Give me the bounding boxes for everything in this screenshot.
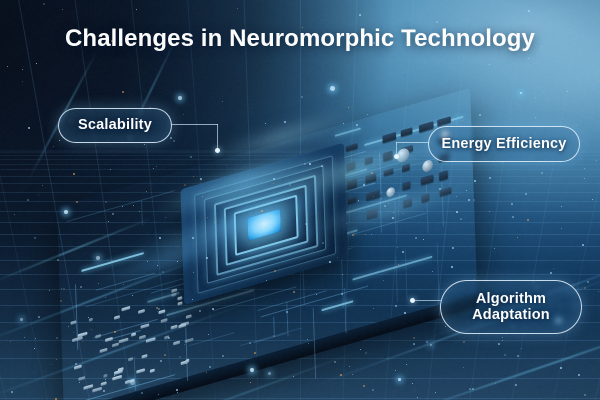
speck [68, 326, 69, 327]
speck [511, 203, 513, 205]
speck [561, 206, 562, 207]
cpu-pin [346, 289, 349, 303]
speck [206, 372, 207, 373]
speck [439, 188, 441, 190]
speck [592, 199, 593, 200]
speck [596, 160, 597, 161]
cpu-pin [257, 304, 260, 318]
glow-node [20, 318, 23, 321]
speck [186, 363, 187, 364]
leader-endpoint-energy [394, 154, 399, 159]
cpu-pin [164, 331, 167, 345]
cpu-pin [426, 235, 429, 250]
cpu-pin [308, 269, 311, 284]
speck [214, 222, 215, 223]
cpu-pin [112, 346, 115, 360]
cpu-pin [179, 326, 182, 340]
cpu-pin [231, 312, 234, 326]
speck [301, 96, 303, 98]
cpu-pin [236, 310, 239, 324]
cpu-pin [349, 228, 363, 235]
speck [584, 287, 586, 289]
speck [525, 193, 527, 195]
cpu-pin [148, 335, 151, 349]
speck [432, 271, 433, 272]
speck [273, 178, 275, 180]
speck [373, 308, 374, 309]
cpu-pin [404, 241, 407, 256]
speck [472, 388, 474, 390]
cpu-pin [159, 332, 162, 346]
speck [114, 331, 116, 333]
speck [11, 391, 13, 393]
glow-node [250, 368, 254, 372]
speck [62, 9, 63, 10]
cpu-pin [270, 280, 273, 295]
speck [372, 389, 374, 391]
speck [528, 58, 529, 59]
cpu-pin [367, 283, 370, 297]
cpu-pin [292, 273, 295, 288]
cpu-pin [486, 218, 489, 233]
speck [342, 274, 343, 275]
speck [381, 198, 382, 199]
hero-image: Scalability Energy Efficiency Algorithm … [0, 0, 600, 400]
speck [413, 337, 415, 339]
cpu-pin [341, 259, 344, 274]
cpu-pin [459, 225, 462, 240]
speck [261, 210, 263, 212]
cpu-pin [362, 285, 365, 299]
speck [358, 200, 359, 201]
cpu-pin [319, 266, 322, 281]
speck [141, 392, 143, 394]
speck [535, 97, 536, 98]
cpu-pin [330, 262, 333, 277]
speck [57, 259, 59, 261]
cpu-pin [117, 344, 120, 358]
speck [584, 178, 585, 179]
cpu-pin [366, 252, 369, 267]
speck [254, 352, 256, 354]
speck [598, 80, 599, 81]
cpu-pin [169, 292, 183, 299]
cpu-pin [193, 302, 196, 317]
speck [404, 312, 406, 314]
speck [463, 367, 464, 368]
cpu-pin [211, 318, 214, 332]
speck [504, 354, 506, 356]
speck [144, 144, 145, 145]
cpu-pin [169, 316, 183, 323]
speck [158, 308, 160, 310]
speck [249, 342, 251, 344]
speck [206, 257, 208, 259]
speck [423, 239, 424, 240]
cpu-pin [350, 251, 364, 258]
cpu-pin [476, 221, 479, 236]
callout-algorithm-line2: Adaptation [472, 307, 550, 323]
speck [133, 205, 134, 206]
cpu-pin [278, 298, 281, 312]
speck [452, 247, 454, 249]
cpu-pin [243, 287, 246, 302]
speck [415, 237, 417, 239]
speck [207, 217, 208, 218]
speck [35, 338, 36, 339]
cpu-pin [281, 276, 284, 291]
cpu-pin [336, 261, 339, 276]
speck [179, 356, 181, 358]
speck [168, 337, 170, 339]
speck [395, 370, 396, 371]
speck [157, 265, 158, 266]
speck [363, 385, 365, 387]
cpu-pin [262, 303, 265, 317]
speck [371, 172, 373, 174]
speck [193, 176, 194, 177]
speck [266, 280, 267, 281]
speck [284, 121, 286, 123]
callout-scalability-label: Scalability [78, 117, 152, 133]
speck [567, 91, 568, 92]
cpu-pin [221, 315, 224, 329]
speck [176, 389, 178, 391]
speck [132, 295, 133, 296]
speck [494, 248, 495, 249]
cpu-pin [351, 288, 354, 302]
speck [598, 291, 599, 292]
speck [10, 341, 11, 342]
speck [474, 180, 476, 182]
cpu-pin [221, 294, 224, 309]
speck [308, 343, 309, 344]
speck [184, 184, 186, 186]
cpu-pin [216, 316, 219, 330]
cpu-pin [410, 240, 413, 255]
cpu-pin [437, 263, 440, 277]
speck [209, 366, 211, 368]
speck [192, 299, 193, 300]
cpu-pin [432, 233, 435, 248]
speck [398, 264, 399, 265]
speck [274, 270, 276, 272]
cpu-pin [335, 292, 338, 306]
cpu-pin [188, 303, 191, 318]
cpu-pin [226, 292, 229, 307]
cpu-pin [174, 328, 177, 342]
cpu-pin [394, 275, 397, 289]
cpu-pin [168, 286, 182, 293]
speck [560, 367, 562, 369]
speck [451, 266, 453, 268]
cpu-pin [154, 334, 157, 348]
speck [387, 358, 388, 359]
speck [49, 290, 50, 291]
speck [352, 374, 353, 375]
speck [584, 168, 585, 169]
cpu-pin [259, 283, 262, 298]
cpu-pin [454, 227, 457, 242]
leader-endpoint-algorithm [410, 298, 415, 303]
cpu-pin [200, 321, 203, 335]
speck [27, 199, 29, 201]
page-title: Challenges in Neuromorphic Technology [0, 25, 600, 53]
speck [199, 310, 201, 312]
cpu-pin [481, 219, 484, 234]
speck [304, 163, 306, 165]
cpu-pin [378, 280, 381, 294]
speck [479, 114, 481, 116]
speck [34, 237, 36, 239]
leader-line-energy [396, 142, 430, 143]
cpu-pin [405, 272, 408, 286]
speck [309, 163, 311, 165]
cpu-pin [128, 341, 131, 355]
cpu-pin [415, 269, 418, 283]
cpu-pin [383, 247, 386, 262]
callout-energy-efficiency-label: Energy Efficiency [441, 136, 566, 152]
callout-algorithm-line1: Algorithm [476, 291, 546, 307]
cpu-pin [410, 271, 413, 285]
cpu-pin [185, 325, 188, 339]
speck [406, 364, 407, 365]
speck [80, 286, 82, 288]
callout-algorithm-adaptation[interactable]: Algorithm Adaptation [440, 280, 582, 334]
cpu-pin [389, 277, 392, 291]
leader-line-scalability [217, 124, 218, 150]
speck [403, 213, 404, 214]
cpu-pin [399, 274, 402, 288]
cpu-pin [442, 262, 445, 276]
cpu-pin [330, 294, 333, 308]
leader-endpoint-scalability [215, 148, 220, 153]
speck [153, 168, 154, 169]
cpu-pin [426, 266, 429, 280]
speck [367, 114, 368, 115]
cpu-pin [143, 337, 146, 351]
speck [334, 361, 336, 363]
cpu-pin [297, 272, 300, 287]
speck [388, 203, 389, 204]
speck [56, 337, 58, 339]
cpu-pin [237, 289, 240, 304]
cpu-pin [388, 246, 391, 261]
glow-node [330, 86, 335, 91]
speck [360, 349, 361, 350]
cpu-pin [348, 198, 362, 205]
speck [212, 308, 214, 310]
speck [293, 291, 295, 293]
leader-line-algorithm [414, 300, 442, 301]
speck [156, 166, 157, 167]
callout-energy-efficiency[interactable]: Energy Efficiency [428, 126, 580, 162]
cpu-pin [448, 260, 451, 274]
speck [517, 237, 518, 238]
cpu-pin [314, 267, 317, 282]
speck [177, 261, 178, 262]
cpu-pin [242, 309, 245, 323]
cpu-pin [415, 238, 418, 253]
cpu-pin [232, 291, 235, 306]
cpu-pin [283, 297, 286, 311]
cpu-pin [303, 270, 306, 285]
speck [337, 257, 338, 258]
cpu-pin [199, 300, 202, 315]
speck [393, 212, 394, 213]
speck [208, 334, 209, 335]
cpu-pin [195, 322, 198, 336]
speck [250, 382, 251, 383]
cpu-pin [226, 313, 229, 327]
speck [322, 242, 324, 244]
cpu-pin [319, 297, 322, 311]
speck [576, 125, 577, 126]
speck [445, 326, 446, 327]
cpu-pin [324, 295, 327, 309]
speck [359, 14, 361, 16]
speck [55, 398, 57, 400]
speck [528, 10, 530, 12]
speck [36, 63, 37, 64]
cpu-pin [205, 319, 208, 333]
speck [159, 237, 161, 239]
glow-node [96, 256, 100, 260]
leader-line-scalability [170, 124, 218, 125]
speck [105, 201, 107, 203]
speck [463, 341, 465, 343]
cpu-pin [458, 257, 461, 271]
speck [136, 9, 137, 10]
cpu-pin [215, 295, 218, 310]
speck [103, 390, 105, 392]
cpu-pin [377, 249, 380, 264]
speck [352, 234, 354, 236]
speck [170, 137, 172, 139]
speck [340, 374, 342, 376]
cpu-pin [372, 250, 375, 265]
speck [498, 343, 500, 345]
speck [535, 117, 536, 118]
callout-algorithm-adaptation-label: Algorithm Adaptation [472, 291, 550, 323]
speck [34, 348, 35, 349]
cpu-pin [346, 144, 360, 151]
cpu-pin [190, 323, 193, 337]
speck [512, 216, 514, 218]
cpu-pin [204, 298, 207, 313]
speck [63, 288, 65, 290]
cpu-pin [275, 278, 278, 293]
speck [38, 316, 40, 318]
glow-node [398, 378, 401, 381]
cpu-pin [356, 286, 359, 300]
cpu-pin [448, 229, 451, 244]
speck [460, 218, 462, 220]
speck [75, 363, 77, 365]
cpu-pin [265, 281, 268, 296]
cpu-pin [470, 222, 473, 237]
cpu-pin [254, 284, 257, 299]
speck [581, 158, 582, 159]
speck [122, 91, 124, 93]
speck [173, 140, 175, 142]
cpu-pin [437, 232, 440, 247]
speck [59, 140, 60, 141]
cpu-pin [248, 286, 251, 301]
cpu-pin [252, 306, 255, 320]
cpu-pin [122, 343, 125, 357]
speck [456, 211, 458, 213]
cpu-pin [286, 275, 289, 290]
cpu-pin [314, 298, 317, 312]
speck [200, 178, 202, 180]
speck [521, 348, 522, 349]
speck [578, 374, 580, 376]
speck [489, 64, 490, 65]
speck [469, 388, 471, 390]
cpu-pin [268, 301, 271, 315]
cpu-pin [421, 268, 424, 282]
cpu-pin [465, 224, 468, 239]
cpu-pin [133, 340, 136, 354]
speck [91, 329, 92, 330]
speck [412, 383, 413, 384]
speck [53, 146, 54, 147]
cpu-pin [443, 230, 446, 245]
cpu-pin [303, 301, 306, 315]
cpu-pin [308, 300, 311, 314]
cpu-pin [247, 307, 250, 321]
speck [146, 191, 147, 192]
cpu-pin [138, 338, 141, 352]
glow-node [130, 380, 135, 385]
speck [341, 293, 343, 295]
speck [495, 383, 496, 384]
speck [273, 335, 275, 337]
callout-scalability[interactable]: Scalability [58, 108, 172, 143]
speck [413, 343, 415, 345]
cpu-pin [273, 300, 276, 314]
speck [60, 300, 62, 302]
speck [329, 261, 331, 263]
cpu-pin [453, 258, 456, 272]
speck [56, 359, 57, 360]
speck [114, 375, 115, 376]
speck [349, 366, 350, 367]
speck [273, 183, 274, 184]
cpu-pin [325, 264, 328, 279]
cpu-pin [373, 282, 376, 296]
speck [88, 317, 89, 318]
speck [541, 172, 543, 174]
speck [265, 123, 266, 124]
